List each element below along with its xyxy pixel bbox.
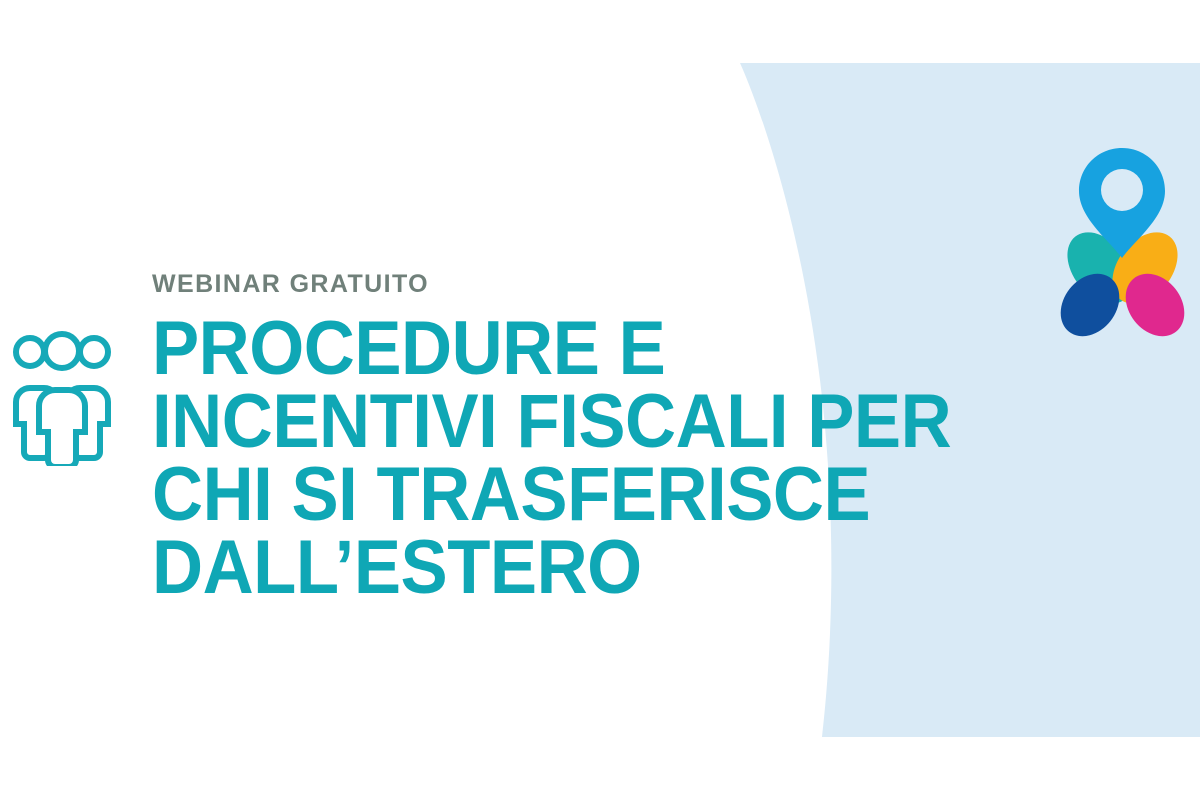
- page-title: PROCEDURE E INCENTIVI FISCALI PER CHI SI…: [152, 313, 1172, 605]
- logo-map-pin-hole: [1101, 169, 1143, 211]
- banner-text-block: WEBINAR GRATUITO PROCEDURE E INCENTIVI F…: [152, 272, 1172, 605]
- people-group-icon: [6, 330, 118, 466]
- brand-logo-map-pin-petals-icon: [1048, 140, 1196, 340]
- eyebrow-label: WEBINAR GRATUITO: [152, 272, 1172, 297]
- headline-line-3: CHI SI TRASFERISCE: [152, 459, 1101, 532]
- webinar-banner: WEBINAR GRATUITO PROCEDURE E INCENTIVI F…: [0, 0, 1200, 800]
- headline-line-1: PROCEDURE E: [152, 313, 1101, 386]
- headline-line-4: DALL’ESTERO: [152, 532, 1101, 605]
- headline-line-2: INCENTIVI FISCALI PER: [152, 386, 1101, 459]
